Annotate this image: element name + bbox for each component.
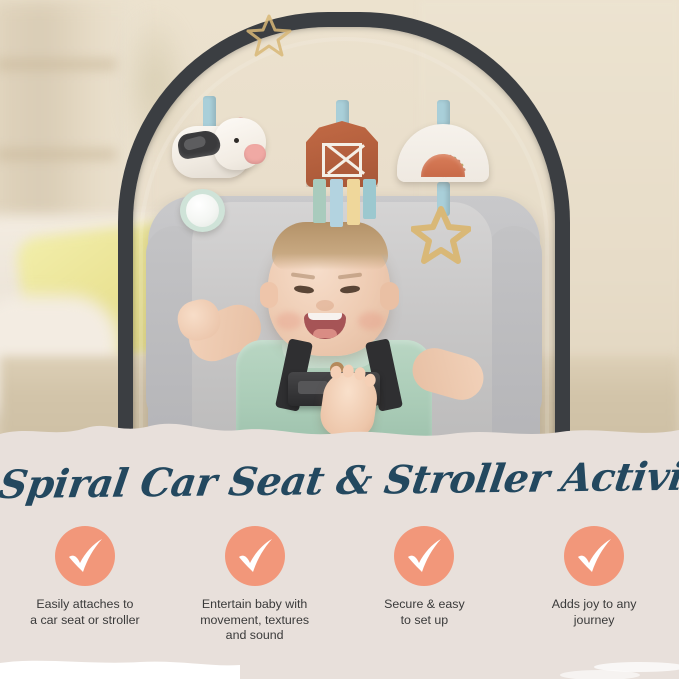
baby-cheek-right: [358, 312, 384, 330]
check-badge: [225, 526, 285, 586]
feature-caption: Easily attaches to a car seat or strolle…: [30, 597, 140, 628]
rainbow-plush-toy: [397, 124, 489, 182]
check-icon: [225, 526, 285, 586]
baby-ear-left: [260, 282, 278, 308]
seat-star-graphic: [246, 14, 292, 58]
mirror-toy: [180, 189, 225, 232]
barn-ribbons: [306, 121, 378, 231]
check-icon: [564, 526, 624, 586]
feature-list: Easily attaches to a car seat or strolle…: [0, 526, 679, 644]
toy-strap-rainbow: [437, 100, 450, 126]
check-icon: [394, 526, 454, 586]
check-badge: [55, 526, 115, 586]
feature-item: Adds joy to any journey: [509, 526, 679, 644]
seat-wing-right: [486, 226, 542, 426]
page-title: Spiral Car Seat & Stroller Activity Toy: [0, 454, 679, 508]
shelf-line-2: [0, 150, 116, 159]
bottom-brush-stroke: [0, 651, 679, 679]
baby-cheek-left: [276, 312, 302, 330]
baby-nose: [316, 300, 334, 311]
feature-caption: Entertain baby with movement, textures a…: [200, 597, 309, 644]
feature-caption: Secure & easy to set up: [384, 597, 465, 628]
product-photo: [0, 0, 679, 452]
check-badge: [394, 526, 454, 586]
feature-caption: Adds joy to any journey: [552, 597, 637, 628]
feature-item: Easily attaches to a car seat or strolle…: [0, 526, 170, 644]
feature-item: Entertain baby with movement, textures a…: [170, 526, 340, 644]
baby-ear-right: [380, 282, 399, 310]
feature-item: Secure & easy to set up: [340, 526, 510, 644]
product-infographic: Spiral Car Seat & Stroller Activity Toy …: [0, 0, 679, 679]
info-panel: Spiral Car Seat & Stroller Activity Toy …: [0, 440, 679, 679]
check-icon: [55, 526, 115, 586]
star-teether-toy: [411, 206, 471, 264]
cow-plush-toy: [172, 118, 266, 180]
shelf-line-1: [0, 60, 116, 69]
check-badge: [564, 526, 624, 586]
